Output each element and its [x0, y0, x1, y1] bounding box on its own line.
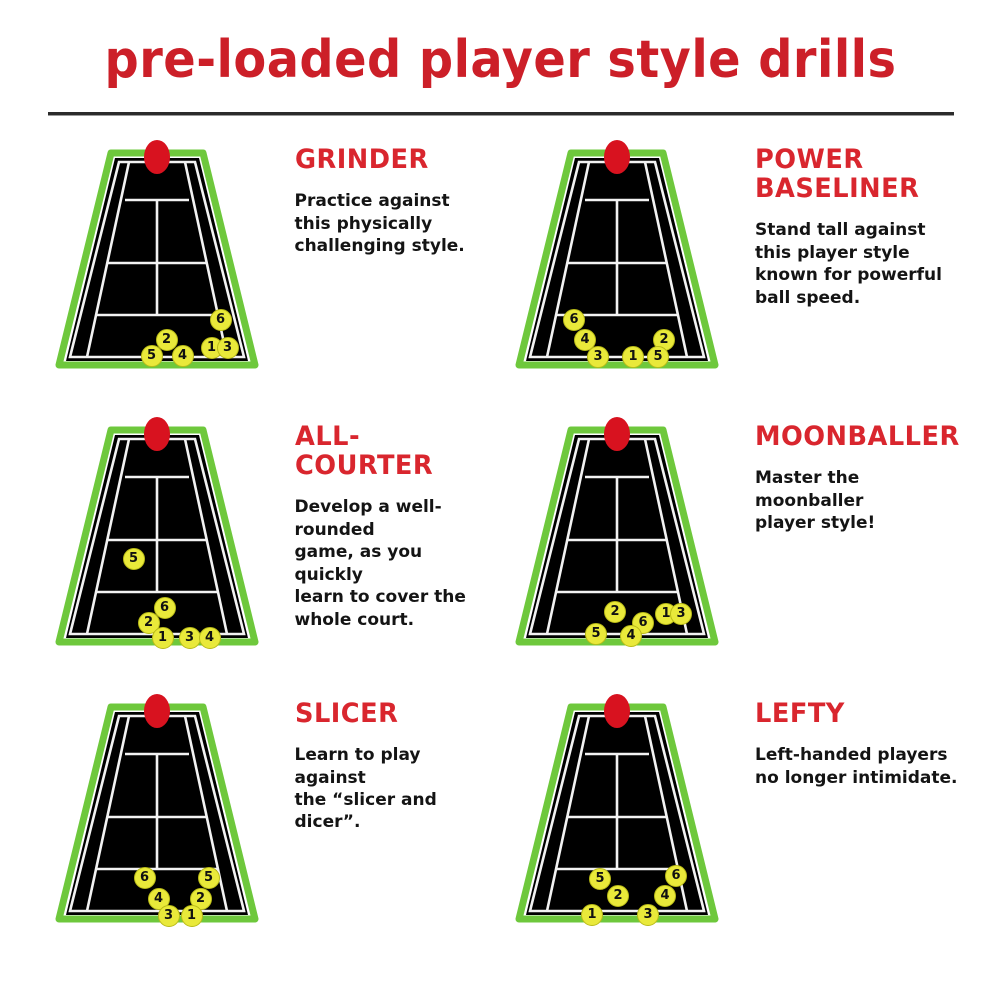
drill-card-moonballer[interactable]: 261354 MOONBALLER Master the moonballer …	[491, 414, 971, 691]
drill-description-all-courter: Develop a well-rounded game, as you quic…	[295, 496, 478, 631]
drill-text-block: LEFTY Left-handed players no longer inti…	[725, 691, 971, 789]
ball-3: 3	[179, 627, 201, 649]
ball-5: 5	[585, 623, 607, 645]
ball-4: 4	[654, 885, 676, 907]
server-position-marker-icon	[144, 417, 170, 451]
drill-card-power-baseliner[interactable]: 642315 POWER BASELINER Stand tall agains…	[491, 137, 971, 414]
drill-description-lefty: Left-handed players no longer intimidate…	[755, 744, 971, 789]
drill-description-slicer: Learn to play against the “slicer and di…	[295, 744, 478, 834]
tennis-court-moonballer: 261354	[509, 414, 725, 654]
drill-title-moonballer: MOONBALLER	[755, 422, 960, 451]
server-position-marker-icon	[604, 694, 630, 728]
ball-2: 2	[604, 601, 626, 623]
ball-1: 1	[622, 346, 644, 368]
ball-3: 3	[637, 904, 659, 926]
ball-4: 4	[199, 627, 221, 649]
ball-5: 5	[647, 346, 669, 368]
page-title: pre-loaded player style drills	[40, 34, 961, 86]
drill-text-block: GRINDER Practice against this physically…	[265, 137, 478, 257]
drills-grid: 621354 GRINDER Practice against this phy…	[31, 115, 971, 968]
ball-5: 5	[589, 868, 611, 890]
drill-text-block: ALL-COURTER Develop a well-rounded game,…	[265, 414, 478, 631]
ball-3: 3	[587, 346, 609, 368]
drill-description-grinder: Practice against this physically challen…	[295, 190, 478, 257]
ball-4: 4	[620, 625, 642, 647]
server-position-marker-icon	[144, 694, 170, 728]
ball-2: 2	[607, 885, 629, 907]
drill-description-moonballer: Master the moonballer player style!	[755, 467, 971, 534]
tennis-court-lefty: 562413	[509, 691, 725, 931]
ball-5: 5	[141, 345, 163, 367]
ball-6: 6	[665, 865, 687, 887]
drill-title-lefty: LEFTY	[755, 699, 960, 728]
ball-1: 1	[581, 904, 603, 926]
server-position-marker-icon	[604, 417, 630, 451]
drill-card-slicer[interactable]: 654231 SLICER Learn to play against the …	[31, 691, 478, 968]
drill-text-block: MOONBALLER Master the moonballer player …	[725, 414, 971, 534]
server-position-marker-icon	[604, 140, 630, 174]
tennis-court-all-courter: 562134	[49, 414, 265, 654]
ball-6: 6	[210, 309, 232, 331]
ball-3: 3	[217, 337, 239, 359]
ball-5: 5	[198, 867, 220, 889]
drill-title-grinder: GRINDER	[295, 145, 468, 174]
tennis-court-grinder: 621354	[49, 137, 265, 377]
ball-5: 5	[123, 548, 145, 570]
ball-6: 6	[134, 867, 156, 889]
drill-text-block: SLICER Learn to play against the “slicer…	[265, 691, 478, 834]
drill-title-power-baseliner: POWER BASELINER	[755, 145, 960, 203]
tennis-court-power-baseliner: 642315	[509, 137, 725, 377]
drill-title-all-courter: ALL-COURTER	[295, 422, 468, 480]
ball-3: 3	[158, 905, 180, 927]
ball-1: 1	[152, 627, 174, 649]
drill-card-grinder[interactable]: 621354 GRINDER Practice against this phy…	[31, 137, 478, 414]
server-position-marker-icon	[144, 140, 170, 174]
drill-card-lefty[interactable]: 562413 LEFTY Left-handed players no long…	[491, 691, 971, 968]
ball-6: 6	[563, 309, 585, 331]
ball-3: 3	[670, 603, 692, 625]
ball-1: 1	[181, 905, 203, 927]
drill-card-all-courter[interactable]: 562134 ALL-COURTER Develop a well-rounde…	[31, 414, 478, 691]
page-header: pre-loaded player style drills	[0, 0, 1001, 115]
drill-description-power-baseliner: Stand tall against this player style kno…	[755, 219, 971, 309]
tennis-court-slicer: 654231	[49, 691, 265, 931]
drill-title-slicer: SLICER	[295, 699, 468, 728]
ball-4: 4	[172, 345, 194, 367]
drill-text-block: POWER BASELINER Stand tall against this …	[725, 137, 971, 309]
